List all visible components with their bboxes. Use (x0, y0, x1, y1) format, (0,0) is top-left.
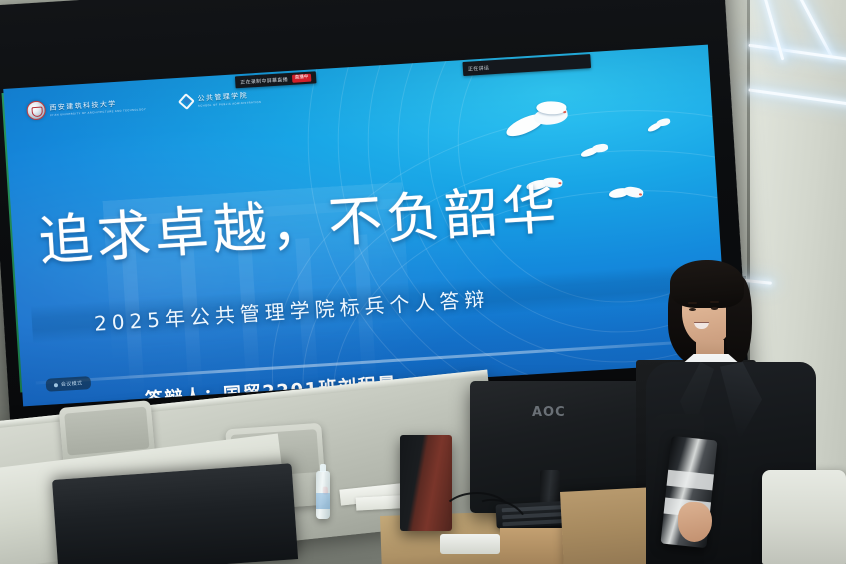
bottle-neck (320, 464, 326, 472)
presenter-eyebrow (688, 302, 697, 304)
device-band (667, 470, 714, 491)
presenter-eye (711, 307, 718, 310)
slide-corner-chip-label: 会议模式 (61, 380, 83, 388)
school-logo: 公共管理学院 SCHOOL OF PUBLIC ADMINISTRATION (179, 89, 261, 108)
presenter-eyebrow (710, 301, 719, 303)
chair-mesh (64, 407, 149, 456)
presenter-hair-front (670, 260, 744, 308)
school-diamond-icon (179, 94, 194, 109)
recording-status-text: 正在录制中屏幕直播 (240, 76, 288, 86)
foreground-monitor[interactable] (52, 463, 298, 564)
aoc-brand-label: AOC (532, 405, 566, 420)
live-badge: 直播中 (292, 73, 312, 83)
slide-screen[interactable]: 正在录制中屏幕直播 直播中 正在讲话 西安建筑科技大学 XI'AN UNIVER… (3, 45, 728, 407)
presenter-eye (689, 308, 696, 311)
screenshot-root: 正在录制中屏幕直播 直播中 正在讲话 西安建筑科技大学 XI'AN UNIVER… (0, 0, 846, 564)
speaking-status-text: 正在讲话 (468, 64, 490, 72)
water-bottle[interactable] (316, 471, 330, 519)
bottle-label (316, 493, 330, 509)
white-chair[interactable] (762, 470, 846, 564)
slide-corner-chip[interactable]: 会议模式 (46, 376, 91, 392)
status-dot-icon (54, 383, 58, 387)
university-seal-icon (26, 100, 46, 120)
